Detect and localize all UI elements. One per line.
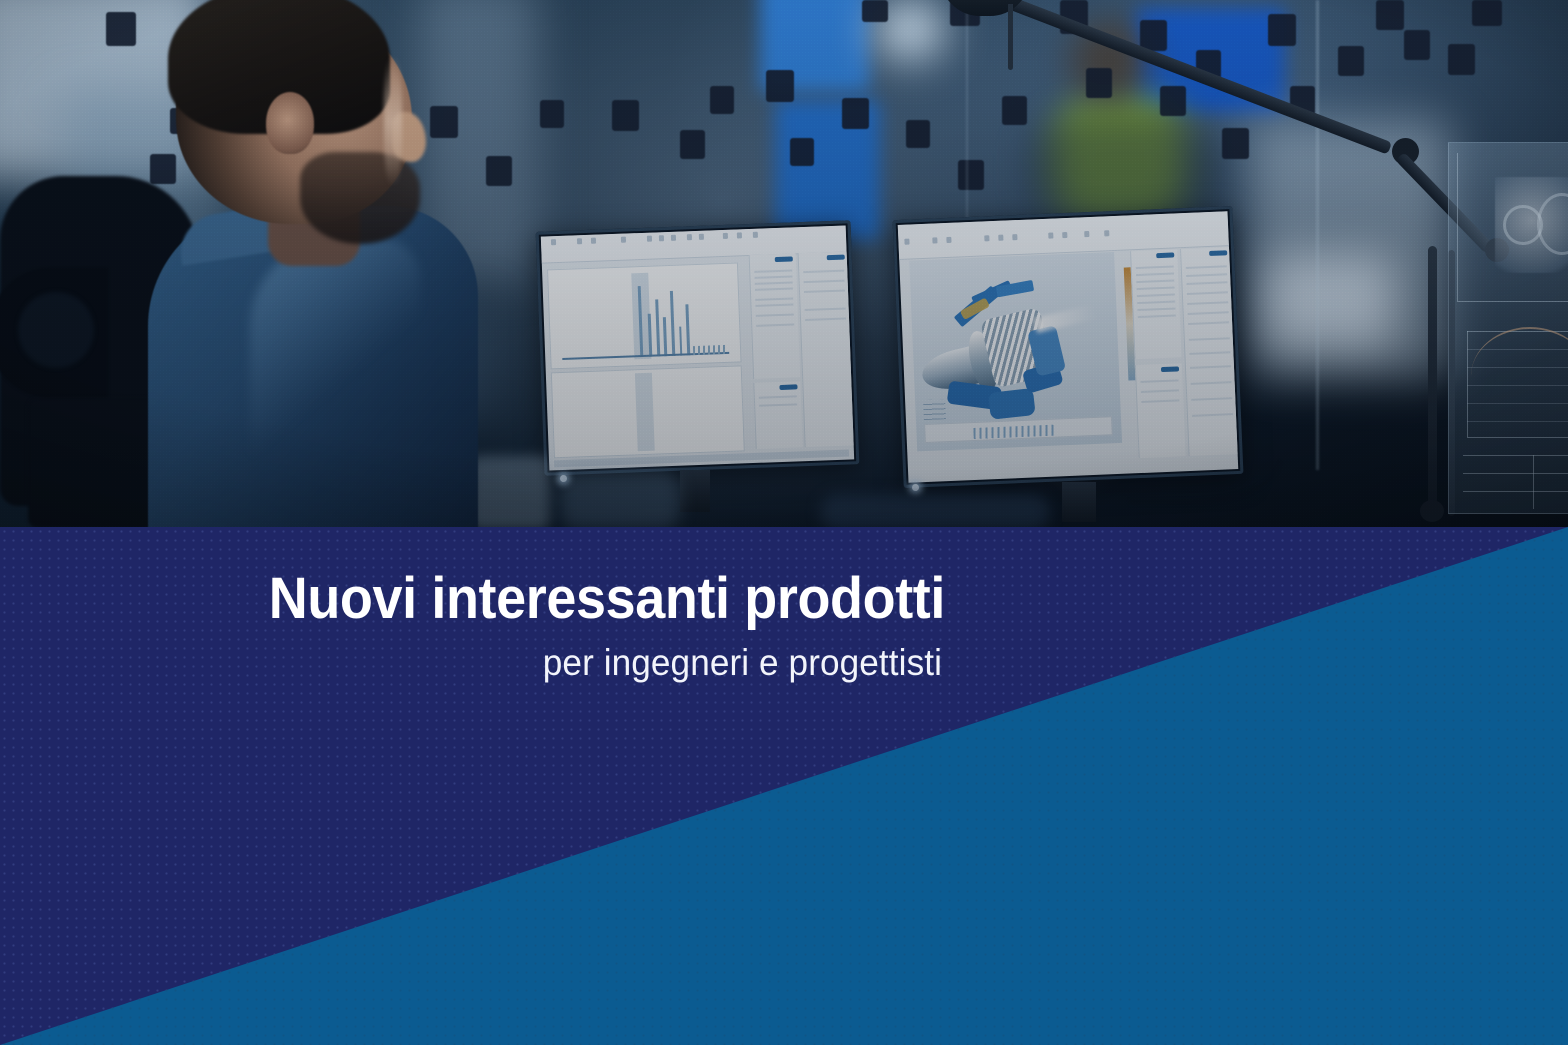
banner-headline: Nuovi interessanti prodotti xyxy=(66,569,945,628)
glass-decal xyxy=(1160,86,1186,116)
engineer-shoulder-highlight xyxy=(250,238,420,458)
lamp-rod-vertical xyxy=(1428,246,1437,516)
glass-decal xyxy=(906,120,930,148)
banner-section: Nuovi interessanti prodotti per ingegner… xyxy=(0,527,1568,1045)
glass-decal xyxy=(710,86,734,114)
desk-keyboard xyxy=(820,494,1050,527)
engineer-beard xyxy=(300,152,420,244)
poster-frame-line xyxy=(1457,153,1458,301)
lamp-joint-base xyxy=(1420,500,1444,522)
banner-subheadline: per ingegneri e progettisti xyxy=(47,642,942,684)
poster-performance-curve xyxy=(1471,327,1568,425)
glass-decal xyxy=(680,130,705,159)
left-monitor-stand xyxy=(680,470,710,512)
glass-decal xyxy=(766,70,794,102)
poster-frame-line xyxy=(1457,301,1568,302)
desk-glass-jar xyxy=(470,456,550,527)
glass-decal xyxy=(486,156,512,186)
glass-decal xyxy=(1376,0,1404,30)
poster-titleblock-line xyxy=(1463,491,1568,492)
glass-decal xyxy=(150,154,176,184)
glass-decal xyxy=(1222,128,1249,159)
glass-decal xyxy=(1002,96,1027,125)
right-monitor-power-led xyxy=(912,484,919,491)
glass-decal xyxy=(1338,46,1364,76)
hero-photo xyxy=(0,0,1568,527)
glass-decal xyxy=(1268,14,1296,46)
poster-titleblock-line xyxy=(1533,455,1534,509)
glass-decal xyxy=(1086,68,1112,98)
glass-decal xyxy=(1404,30,1430,60)
glass-decal xyxy=(1472,0,1502,26)
glass-decal xyxy=(540,100,564,128)
glass-decal xyxy=(842,98,869,129)
poster-titleblock-line xyxy=(1463,455,1568,456)
desk-container xyxy=(560,470,680,527)
lamp-hook xyxy=(1008,4,1013,70)
poster-graph-axis-x xyxy=(1467,437,1568,438)
left-monitor xyxy=(536,220,860,475)
glass-decal xyxy=(612,100,639,131)
right-monitor-stand xyxy=(1062,482,1096,522)
engineer-face-rim-light xyxy=(384,56,402,186)
glass-decal xyxy=(430,106,458,138)
office-chair-armrest-gap xyxy=(18,292,94,368)
poster-titleblock-line xyxy=(1463,473,1568,474)
glass-partition-edge xyxy=(1316,0,1319,470)
promo-banner-image: Nuovi interessanti prodotti per ingegner… xyxy=(0,0,1568,1045)
glass-decal xyxy=(958,160,984,190)
glass-decal xyxy=(862,0,888,22)
technical-drawing-poster xyxy=(1448,142,1568,514)
bg-blur-monitor-far-right xyxy=(1265,255,1395,350)
bg-worker-body xyxy=(1030,110,1220,220)
glass-decal xyxy=(1448,44,1475,75)
left-monitor-bezel xyxy=(536,220,860,475)
glass-decal xyxy=(106,12,136,46)
engineer-ear xyxy=(266,92,314,154)
glass-decal xyxy=(790,138,814,166)
